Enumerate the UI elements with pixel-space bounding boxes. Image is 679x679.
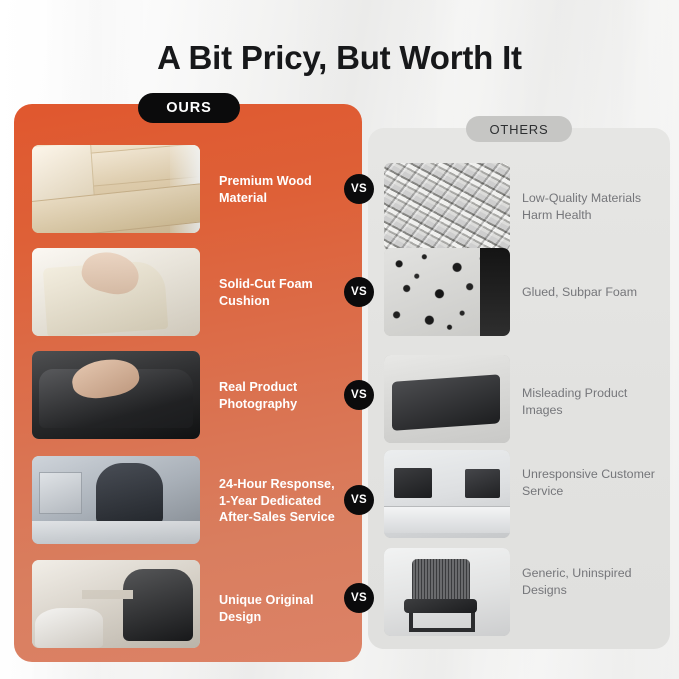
page-title: A Bit Pricy, But Worth It	[0, 36, 679, 80]
ours-thumbnail-foam-cushion-image	[32, 248, 200, 336]
others-feature-label: Glued, Subpar Foam	[522, 284, 670, 301]
comparison-row: Real Product Photography VS Misleading P…	[0, 351, 679, 441]
dark-foam-block-icon	[384, 355, 510, 443]
comparison-row: 24-Hour Response, 1-Year Dedicated After…	[0, 456, 679, 546]
others-feature-label: Unresponsive Customer Service	[522, 466, 670, 499]
ours-thumbnail-wood-planks-image	[32, 145, 200, 233]
ours-thumbnail-leather-seat-image	[32, 351, 200, 439]
ours-feature-label: 24-Hour Response, 1-Year Dedicated After…	[219, 476, 341, 526]
others-thumbnail-empty-desks-image	[384, 450, 510, 538]
office-support-icon	[32, 456, 200, 544]
vs-badge: VS	[344, 583, 374, 613]
vs-badge: VS	[344, 380, 374, 410]
vs-badge: VS	[344, 485, 374, 515]
ours-feature-label: Real Product Photography	[219, 379, 341, 412]
others-feature-label: Low-Quality Materials Harm Health	[522, 190, 670, 223]
ours-thumbnail-office-support-image	[32, 456, 200, 544]
ours-badge: OURS	[138, 93, 240, 123]
ours-feature-label: Solid-Cut Foam Cushion	[219, 276, 341, 309]
speckled-foam-icon	[384, 248, 510, 336]
generic-mesh-chair-icon	[384, 548, 510, 636]
others-feature-label: Generic, Uninspired Designs	[522, 565, 670, 598]
ours-feature-label: Unique Original Design	[219, 592, 341, 625]
others-feature-label: Misleading Product Images	[522, 385, 670, 418]
office-chair-room-icon	[32, 560, 200, 648]
empty-desks-icon	[384, 450, 510, 538]
others-thumbnail-generic-mesh-chair-image	[384, 548, 510, 636]
wood-planks-icon	[32, 145, 200, 233]
others-badge: OTHERS	[466, 116, 572, 142]
others-thumbnail-speckled-foam-image	[384, 248, 510, 336]
comparison-row: Unique Original Design VS Generic, Unins…	[0, 560, 679, 650]
others-thumbnail-wood-scraps-image	[384, 163, 510, 251]
others-thumbnail-dark-foam-block-image	[384, 355, 510, 443]
ours-thumbnail-office-chair-room-image	[32, 560, 200, 648]
comparison-row: Premium Wood Material VS Low-Quality Mat…	[0, 145, 679, 235]
comparison-row: Solid-Cut Foam Cushion VS Glued, Subpar …	[0, 248, 679, 338]
ours-feature-label: Premium Wood Material	[219, 173, 341, 206]
wood-scraps-icon	[384, 163, 510, 251]
foam-cushion-icon	[32, 248, 200, 336]
leather-seat-icon	[32, 351, 200, 439]
vs-badge: VS	[344, 174, 374, 204]
vs-badge: VS	[344, 277, 374, 307]
